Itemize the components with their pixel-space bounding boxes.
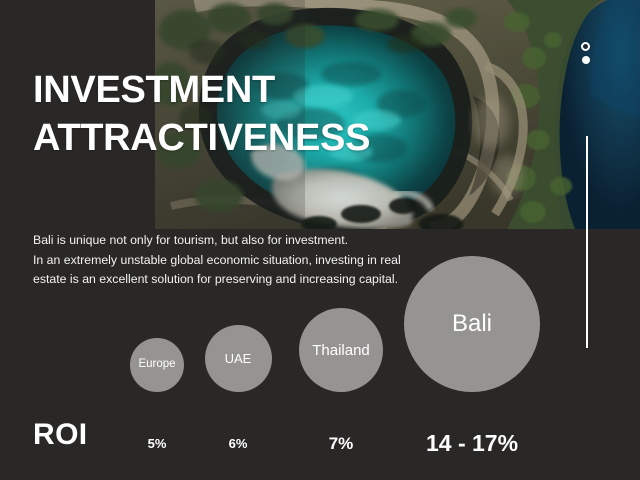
bubble-label-bali: Bali — [452, 312, 492, 336]
bubble-label-europe: Europe — [138, 359, 175, 371]
roi-value-europe: 5% — [148, 436, 167, 451]
roi-row: ROI 5% 6% 7% 14 - 17% — [0, 418, 640, 460]
bubble-chart: Europe UAE Thailand Bali — [0, 280, 640, 410]
bubble-label-uae: UAE — [225, 352, 252, 365]
ring-dot-icon — [581, 42, 590, 51]
filled-dot-icon — [582, 56, 590, 64]
decor-dots — [581, 42, 595, 68]
bubble-thailand: Thailand — [299, 308, 383, 392]
bubble-bali: Bali — [404, 256, 540, 392]
roi-value-bali: 14 - 17% — [426, 430, 518, 457]
page-title: INVESTMENT ATTRACTIVENESS — [33, 66, 513, 162]
slide-canvas: INVESTMENT ATTRACTIVENESS Bali is unique… — [0, 0, 640, 480]
bubble-europe: Europe — [130, 338, 184, 392]
roi-label: ROI — [33, 418, 88, 452]
bubble-uae: UAE — [205, 325, 272, 392]
roi-value-uae: 6% — [229, 436, 248, 451]
bubble-label-thailand: Thailand — [312, 343, 370, 358]
roi-value-thailand: 7% — [329, 434, 354, 454]
